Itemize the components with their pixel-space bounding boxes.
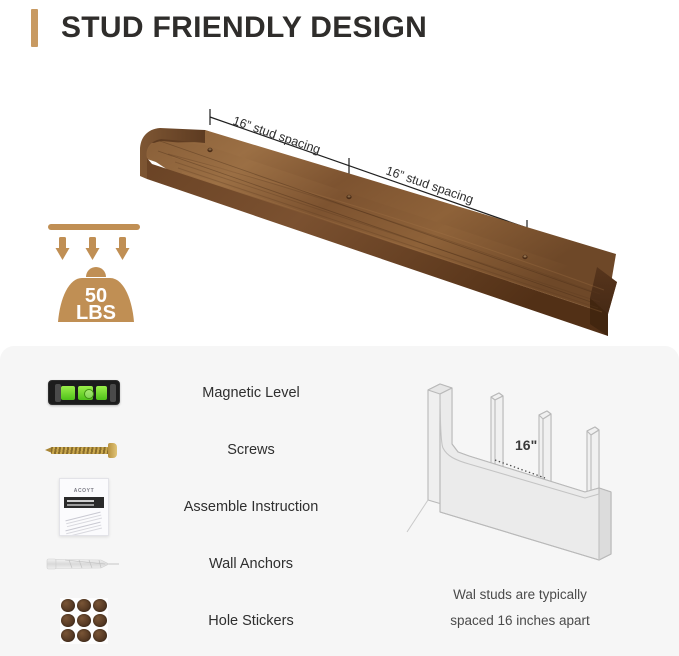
page-title: STUD FRIENDLY DESIGN	[61, 11, 427, 45]
stud-spacing-label: 16"	[515, 437, 537, 453]
accessory-list: Magnetic Level Screws ACOYT	[38, 364, 378, 649]
list-item: Magnetic Level	[38, 364, 378, 421]
floor-guide-line	[407, 500, 428, 532]
instruction-booklet-icon: ACOYT	[38, 478, 130, 536]
weight-capacity-badge: 50 LBS	[44, 220, 148, 330]
list-item: ACOYT Assemble Instruction	[38, 478, 378, 535]
screw-hole	[522, 255, 527, 259]
caption-line-1: Wal studs are typically	[395, 582, 645, 608]
wall-anchor-icon	[38, 555, 130, 573]
accessory-label: Assemble Instruction	[130, 499, 378, 515]
title-accent-bar	[31, 9, 38, 47]
screw-hole	[207, 148, 212, 152]
mount-bar	[48, 224, 140, 230]
list-item: Wall Anchors	[38, 535, 378, 592]
shelf-illustration	[140, 128, 617, 336]
load-arrow	[56, 237, 70, 260]
list-item: Screws	[38, 421, 378, 478]
accessory-label: Hole Stickers	[130, 613, 378, 629]
list-item: Hole Stickers	[38, 592, 378, 649]
accessory-label: Screws	[130, 442, 378, 458]
screw-icon	[38, 442, 130, 458]
stud-diagram-caption: Wal studs are typically spaced 16 inches…	[395, 582, 645, 634]
hole-sticker-icon	[38, 598, 130, 644]
wall-stud-diagram: 16"	[395, 382, 645, 582]
caption-line-2: spaced 16 inches apart	[395, 608, 645, 634]
load-arrow	[86, 237, 100, 260]
accessories-panel: Magnetic Level Screws ACOYT	[0, 346, 679, 656]
wall-stud	[587, 427, 599, 494]
load-arrow	[116, 237, 130, 260]
accessory-label: Wall Anchors	[130, 556, 378, 572]
magnetic-level-icon	[38, 380, 130, 405]
accessory-label: Magnetic Level	[130, 385, 378, 401]
screw-hole	[346, 195, 351, 199]
weight-unit: LBS	[76, 302, 116, 324]
